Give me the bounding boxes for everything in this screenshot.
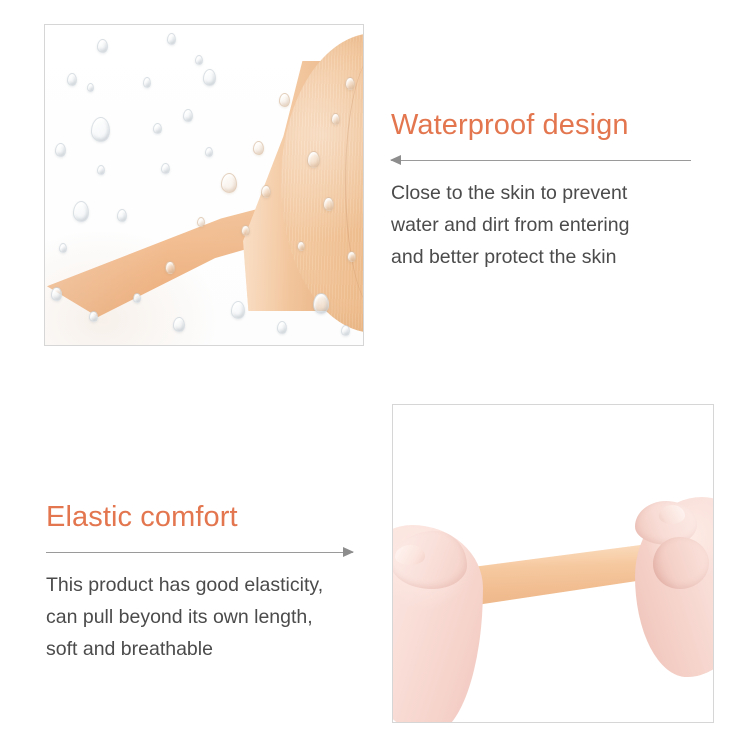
arrow-left-icon	[390, 155, 401, 165]
water-droplet	[51, 287, 62, 301]
divider-line	[391, 160, 691, 161]
water-droplet	[59, 243, 67, 253]
water-droplet	[307, 151, 320, 168]
water-droplet	[197, 217, 205, 227]
description-line: and better protect the skin	[391, 241, 691, 273]
elastic-heading: Elastic comfort	[46, 502, 353, 533]
water-droplet	[97, 39, 108, 53]
water-droplet	[279, 93, 290, 107]
elastic-text-block: Elastic comfort This product has good el…	[46, 502, 353, 665]
water-droplet	[261, 185, 271, 198]
water-droplet	[241, 225, 250, 236]
water-droplet	[161, 163, 170, 174]
elastic-arrow-divider	[46, 546, 353, 560]
description-line: Close to the skin to prevent	[391, 177, 691, 209]
water-droplet	[341, 325, 350, 336]
elastic-photo-scene	[393, 405, 713, 722]
water-droplet	[167, 33, 176, 45]
water-droplet	[345, 77, 355, 90]
water-droplet	[231, 301, 245, 319]
waterproof-heading: Waterproof design	[391, 110, 691, 141]
waterproof-description: Close to the skin to prevent water and d…	[391, 177, 691, 273]
water-droplet	[117, 209, 127, 222]
elastic-description: This product has good elasticity, can pu…	[46, 569, 353, 665]
water-droplet	[67, 73, 77, 86]
description-line: soft and breathable	[46, 633, 353, 665]
water-droplet	[133, 293, 141, 303]
water-droplet	[195, 55, 203, 65]
water-droplet	[297, 241, 305, 251]
water-droplet	[87, 83, 94, 92]
divider-line	[46, 552, 353, 553]
water-droplet	[173, 317, 185, 332]
water-droplet	[165, 261, 175, 274]
water-droplet	[203, 69, 216, 86]
elastic-photo	[392, 404, 714, 723]
water-droplet	[323, 197, 334, 211]
water-droplet	[331, 113, 340, 125]
water-droplet	[73, 201, 89, 222]
waterproof-arrow-divider	[391, 154, 691, 168]
water-droplet	[153, 123, 162, 134]
water-droplet	[253, 141, 264, 155]
water-droplet	[97, 165, 105, 175]
description-line: This product has good elasticity,	[46, 569, 353, 601]
left-thumbnail	[395, 545, 425, 565]
water-droplet	[91, 117, 110, 142]
water-droplet	[205, 147, 213, 157]
right-thumb	[653, 537, 709, 589]
waterproof-photo	[44, 24, 364, 346]
description-line: can pull beyond its own length,	[46, 601, 353, 633]
water-droplet	[277, 321, 287, 334]
arrow-right-icon	[343, 547, 354, 557]
water-droplet	[221, 173, 237, 193]
waterproof-text-block: Waterproof design Close to the skin to p…	[391, 110, 691, 273]
product-feature-infographic: Waterproof design Close to the skin to p…	[0, 0, 750, 750]
water-droplet	[55, 143, 66, 157]
water-droplet	[143, 77, 151, 88]
water-droplet	[313, 293, 329, 314]
waterproof-photo-scene	[45, 25, 363, 345]
description-line: water and dirt from entering	[391, 209, 691, 241]
water-droplet	[183, 109, 193, 122]
water-droplet	[89, 311, 98, 322]
water-droplet	[347, 251, 356, 262]
right-fingernail	[659, 505, 685, 524]
